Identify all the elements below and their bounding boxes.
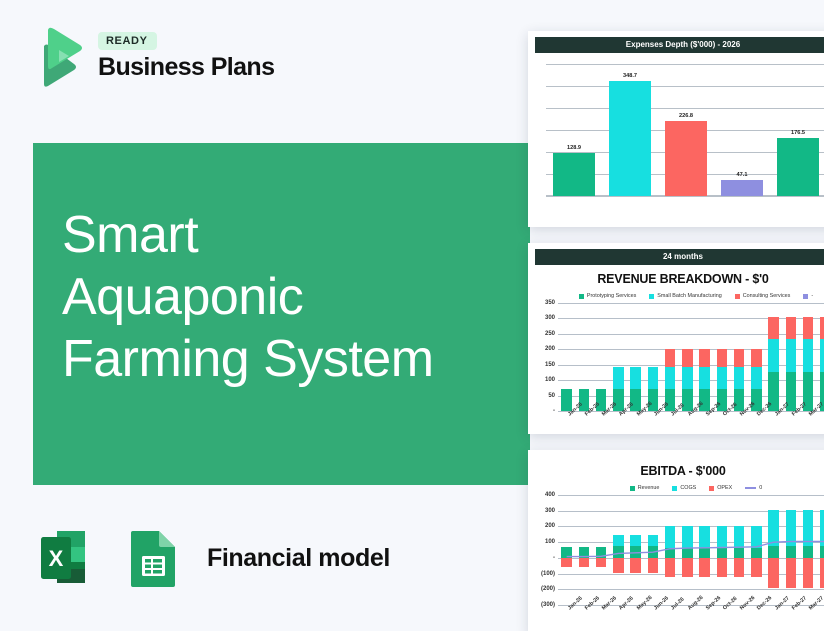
legend-item-4: 0	[745, 485, 762, 491]
x-tick: Apr-27	[817, 605, 824, 631]
x-tick: Aug-26	[679, 411, 696, 434]
x-tick: Jan-27	[765, 411, 782, 434]
bar-value-label: 348.7	[623, 73, 637, 79]
y-axis: 35030025020015010050-	[532, 303, 558, 411]
bar-column	[817, 303, 824, 411]
bar-segment	[751, 349, 762, 367]
y-tick-label: 100	[545, 377, 555, 383]
bar-segment	[734, 349, 745, 367]
y-tick-label: (300)	[541, 602, 555, 608]
chart-legend: Prototyping ServicesSmall Batch Manufact…	[528, 293, 824, 299]
bar-segment	[613, 367, 624, 389]
ready-badge: READY	[98, 32, 157, 50]
bar-column: 348.7	[602, 64, 658, 196]
page-title: Smart Aquaponic Farming System	[62, 204, 532, 390]
bar-column	[662, 303, 679, 411]
y-tick-label: (200)	[541, 586, 555, 592]
bar-column	[731, 303, 748, 411]
brand-name: Business Plans	[98, 53, 274, 82]
bar-segment	[648, 367, 659, 389]
x-tick: Apr-26	[610, 605, 627, 631]
y-tick-label: 200	[545, 523, 555, 529]
legend-item-4: -	[803, 293, 813, 299]
expenses-depth-plot: 128.9348.7226.847.1176.5	[532, 64, 824, 206]
legend-item-3: OPEX	[709, 485, 732, 491]
bar-column: 47.1	[714, 64, 770, 196]
google-sheets-icon	[121, 523, 185, 593]
bar-segment	[768, 317, 779, 340]
bar-value-label: 176.5	[791, 130, 805, 136]
legend-label: OPEX	[717, 485, 732, 491]
bar-column	[765, 303, 782, 411]
bar-segment	[803, 339, 814, 371]
bar	[609, 81, 650, 196]
bar-segment	[665, 349, 676, 367]
legend-item-2: COGS	[672, 485, 696, 491]
x-tick: Feb-27	[782, 411, 799, 434]
y-tick-label: 400	[545, 492, 555, 498]
x-tick: Oct-26	[713, 411, 730, 434]
bar-column: 128.9	[546, 64, 602, 196]
gridline	[546, 196, 824, 197]
y-tick-label: (100)	[541, 571, 555, 577]
x-tick: Mar-27	[800, 605, 817, 631]
legend-color-swatch	[579, 294, 584, 299]
legend-color-swatch	[803, 294, 808, 299]
x-tick: Feb-27	[782, 605, 799, 631]
bar-column	[644, 303, 661, 411]
bar-column	[593, 303, 610, 411]
bar	[777, 138, 818, 196]
bar-column	[575, 303, 592, 411]
chart-card-ebitda: EBITDA - $'000 RevenueCOGSOPEX0 40030020…	[528, 450, 824, 631]
bar-segment	[665, 367, 676, 389]
x-tick: Jan-26	[558, 605, 575, 631]
financial-model-label: Financial model	[207, 544, 390, 573]
legend-label: COGS	[680, 485, 696, 491]
bar	[553, 153, 594, 196]
bar	[665, 121, 706, 196]
x-tick: Feb-26	[575, 605, 592, 631]
legend-item-2: Small Batch Manufacturing	[649, 293, 721, 299]
bar-segment	[682, 349, 693, 367]
legend-label: 0	[759, 485, 762, 491]
legend-item-1: Prototyping Services	[579, 293, 636, 299]
bar-group	[558, 303, 824, 411]
x-tick: Jan-27	[765, 605, 782, 631]
bar-segment	[699, 349, 710, 367]
chart-title: REVENUE BREAKDOWN - $'0	[528, 272, 824, 286]
hero-panel: Smart Aquaponic Farming System	[33, 143, 530, 485]
y-tick-label: 350	[545, 300, 555, 306]
chart-legend: RevenueCOGSOPEX0	[528, 485, 824, 491]
bar-column	[610, 303, 627, 411]
revenue-breakdown-plot: 35030025020015010050-Jan-26Feb-26Mar-26A…	[532, 303, 824, 411]
bar-segment	[682, 367, 693, 389]
x-tick: Mar-26	[593, 605, 610, 631]
svg-text:X: X	[49, 546, 64, 571]
x-tick: Jul-26	[662, 605, 679, 631]
bar-column	[696, 303, 713, 411]
x-tick: Jan-26	[558, 411, 575, 434]
y-tick-label: -	[553, 408, 555, 414]
bar-segment	[820, 339, 824, 371]
bar-column	[627, 303, 644, 411]
chart-card-expenses-depth: Expenses Depth ($'000) - 2026 128.9348.7…	[528, 31, 824, 227]
chart-header-bar: Expenses Depth ($'000) - 2026	[535, 37, 824, 53]
legend-label: Consulting Services	[743, 293, 791, 299]
y-tick-label: -	[553, 555, 555, 561]
bar-column: 176.5	[770, 64, 824, 196]
y-tick-label: 150	[545, 362, 555, 368]
chart-card-revenue-breakdown: 24 months REVENUE BREAKDOWN - $'0 Protot…	[528, 243, 824, 434]
bar-segment	[561, 389, 572, 411]
chart-title: EBITDA - $'000	[528, 464, 824, 478]
chart-header-bar: 24 months	[535, 249, 824, 265]
bar-column	[782, 303, 799, 411]
x-axis-labels: Jan-26Feb-26Mar-26Apr-26May-26Jun-26Jul-…	[558, 411, 824, 434]
footer-format-row: X Financial model	[33, 523, 390, 593]
x-tick: Apr-26	[610, 411, 627, 434]
microsoft-excel-icon: X	[33, 523, 103, 593]
bar-segment	[734, 367, 745, 389]
bar-segment	[786, 339, 797, 371]
y-tick-label: 200	[545, 346, 555, 352]
x-tick: May-26	[627, 411, 644, 434]
x-tick: Sep-26	[696, 411, 713, 434]
x-axis-labels: Jan-26Feb-26Mar-26Apr-26May-26Jun-26Jul-…	[558, 605, 824, 631]
ebitda-plot: 400300200100-(100)(200)(300)Jan-26Feb-26…	[532, 495, 824, 605]
legend-color-swatch	[649, 294, 654, 299]
x-tick: Nov-26	[731, 411, 748, 434]
x-tick: Sep-26	[696, 605, 713, 631]
bar-column	[800, 303, 817, 411]
x-tick: Jun-26	[644, 411, 661, 434]
bar-segment	[751, 367, 762, 389]
bar-segment	[717, 349, 728, 367]
legend-label: Revenue	[638, 485, 660, 491]
bar-value-label: 128.9	[567, 145, 581, 151]
legend-color-swatch	[630, 486, 635, 491]
x-tick: Dec-26	[748, 411, 765, 434]
x-tick: Mar-26	[593, 411, 610, 434]
x-tick: May-26	[627, 605, 644, 631]
bar-segment	[820, 317, 824, 340]
bar-segment	[768, 339, 779, 371]
bar-value-label: 226.8	[679, 113, 693, 119]
x-tick: Mar-27	[800, 411, 817, 434]
zero-line-series	[558, 495, 824, 605]
brand-logo-block: READY Business Plans	[28, 26, 274, 88]
play-logo-icon	[28, 26, 84, 88]
y-tick-label: 50	[548, 393, 555, 399]
bar-segment	[630, 367, 641, 389]
legend-label: Small Batch Manufacturing	[657, 293, 721, 299]
legend-item-3: Consulting Services	[735, 293, 791, 299]
y-tick-label: 250	[545, 331, 555, 337]
x-tick: Nov-26	[731, 605, 748, 631]
bar-column: 226.8	[658, 64, 714, 196]
y-tick-label: 300	[545, 508, 555, 514]
legend-color-swatch	[672, 486, 677, 491]
bar-segment	[786, 317, 797, 340]
x-tick: Jun-26	[644, 605, 661, 631]
bar-column	[558, 303, 575, 411]
legend-line-swatch	[745, 487, 756, 489]
bar	[721, 180, 762, 196]
y-axis: 400300200100-(100)(200)(300)	[532, 495, 558, 605]
legend-item-1: Revenue	[630, 485, 660, 491]
bar-column	[679, 303, 696, 411]
y-tick-label: 100	[545, 539, 555, 545]
x-tick: Apr-27	[817, 411, 824, 434]
legend-color-swatch	[735, 294, 740, 299]
x-tick: Feb-26	[575, 411, 592, 434]
bar-segment	[717, 367, 728, 389]
bar-value-label: 47.1	[737, 172, 748, 178]
bar-segment	[699, 367, 710, 389]
x-tick: Dec-26	[748, 605, 765, 631]
x-tick: Aug-26	[679, 605, 696, 631]
x-tick: Oct-26	[713, 605, 730, 631]
bar-segment	[803, 317, 814, 340]
legend-color-swatch	[709, 486, 714, 491]
bar-column	[748, 303, 765, 411]
bar-group: 128.9348.7226.847.1176.5	[546, 64, 824, 196]
x-tick: Jul-26	[662, 411, 679, 434]
y-tick-label: 300	[545, 315, 555, 321]
legend-label: Prototyping Services	[587, 293, 636, 299]
bar-column	[713, 303, 730, 411]
legend-label: -	[811, 293, 813, 299]
